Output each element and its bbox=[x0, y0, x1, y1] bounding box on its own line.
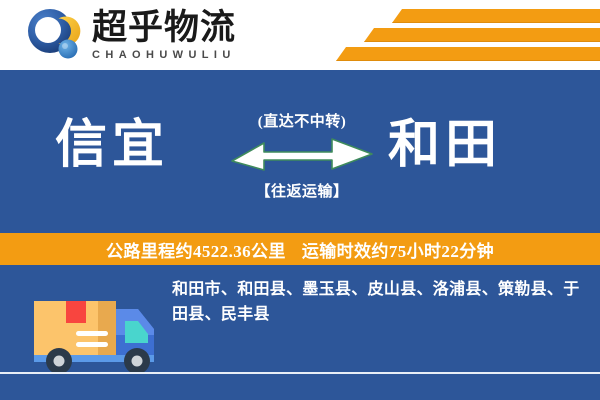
stripe-middle bbox=[364, 28, 600, 42]
round-trip-label: 【往返运输】 bbox=[222, 180, 382, 201]
route-arrow-block: (直达不中转) 【往返运输】 bbox=[222, 110, 382, 201]
route-section: 信宜 (直达不中转) 【往返运输】 和田 bbox=[0, 70, 600, 233]
route-info-bar: 公路里程约4522.36公里 运输时效约75小时22分钟 bbox=[0, 233, 600, 265]
bidirectional-arrow-icon bbox=[228, 135, 376, 175]
footer-divider bbox=[0, 372, 600, 374]
coverage-areas-text: 和田市、和田县、墨玉县、皮山县、洛浦县、策勒县、于田县、民丰县 bbox=[172, 278, 580, 328]
destination-city: 和田 bbox=[388, 120, 502, 172]
direct-service-label: (直达不中转) bbox=[222, 110, 382, 131]
duration-label: 运输时效约75小时22分钟 bbox=[302, 237, 494, 262]
logistics-route-banner: 超乎物流 CHAOHUWULIU 信宜 (直达不中转) 【往返运输】 和田 公路… bbox=[0, 0, 600, 400]
coverage-section: 和田市、和田县、墨玉县、皮山县、洛浦县、策勒县、于田县、民丰县 bbox=[0, 265, 600, 400]
brand-name-cn: 超乎物流 bbox=[92, 9, 236, 47]
brand-wordmark: 超乎物流 CHAOHUWULIU bbox=[92, 9, 236, 61]
truck-svg bbox=[28, 273, 168, 373]
distance-label: 公路里程约4522.36公里 bbox=[106, 237, 286, 262]
brand-logo-group: 超乎物流 CHAOHUWULIU bbox=[24, 6, 236, 64]
stripe-top bbox=[392, 9, 600, 23]
delivery-truck-icon bbox=[28, 273, 168, 373]
banner-header: 超乎物流 CHAOHUWULIU bbox=[0, 0, 600, 70]
brand-name-en: CHAOHUWULIU bbox=[92, 49, 236, 61]
logo-svg bbox=[24, 6, 84, 64]
stripe-bottom bbox=[336, 47, 600, 61]
circle-moon-logo-icon bbox=[24, 6, 84, 64]
decorative-stripes bbox=[280, 9, 600, 65]
origin-city: 信宜 bbox=[55, 120, 169, 172]
